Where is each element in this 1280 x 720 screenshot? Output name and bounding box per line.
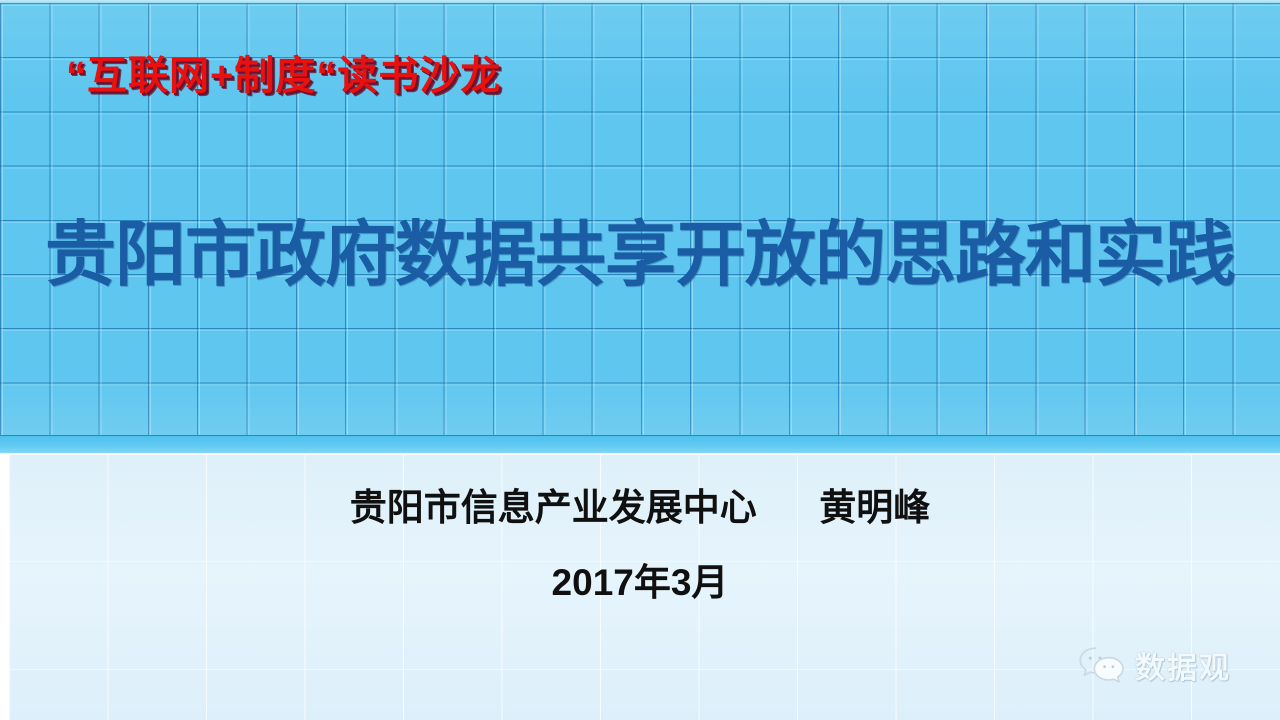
- presentation-slide: “互联网+制度“读书沙龙 贵阳市政府数据共享开放的思路和实践 贵阳市信息产业发展…: [0, 0, 1280, 720]
- presenter-line: 贵阳市信息产业发展中心 黄明峰: [0, 477, 1280, 531]
- watermark-label: 数据观: [1135, 643, 1231, 687]
- watermark: 数据观: [1078, 643, 1231, 687]
- presenter-organization: 贵阳市信息产业发展中心: [350, 487, 757, 528]
- banner-footer-band: [0, 435, 1280, 453]
- slide-subtitle: “互联网+制度“读书沙龙: [66, 54, 501, 98]
- presentation-date: 2017年3月: [0, 552, 1280, 606]
- slide-main-title: 贵阳市政府数据共享开放的思路和实践: [0, 215, 1280, 297]
- wechat-icon: [1078, 645, 1126, 685]
- presenter-name: 黄明峰: [819, 487, 930, 528]
